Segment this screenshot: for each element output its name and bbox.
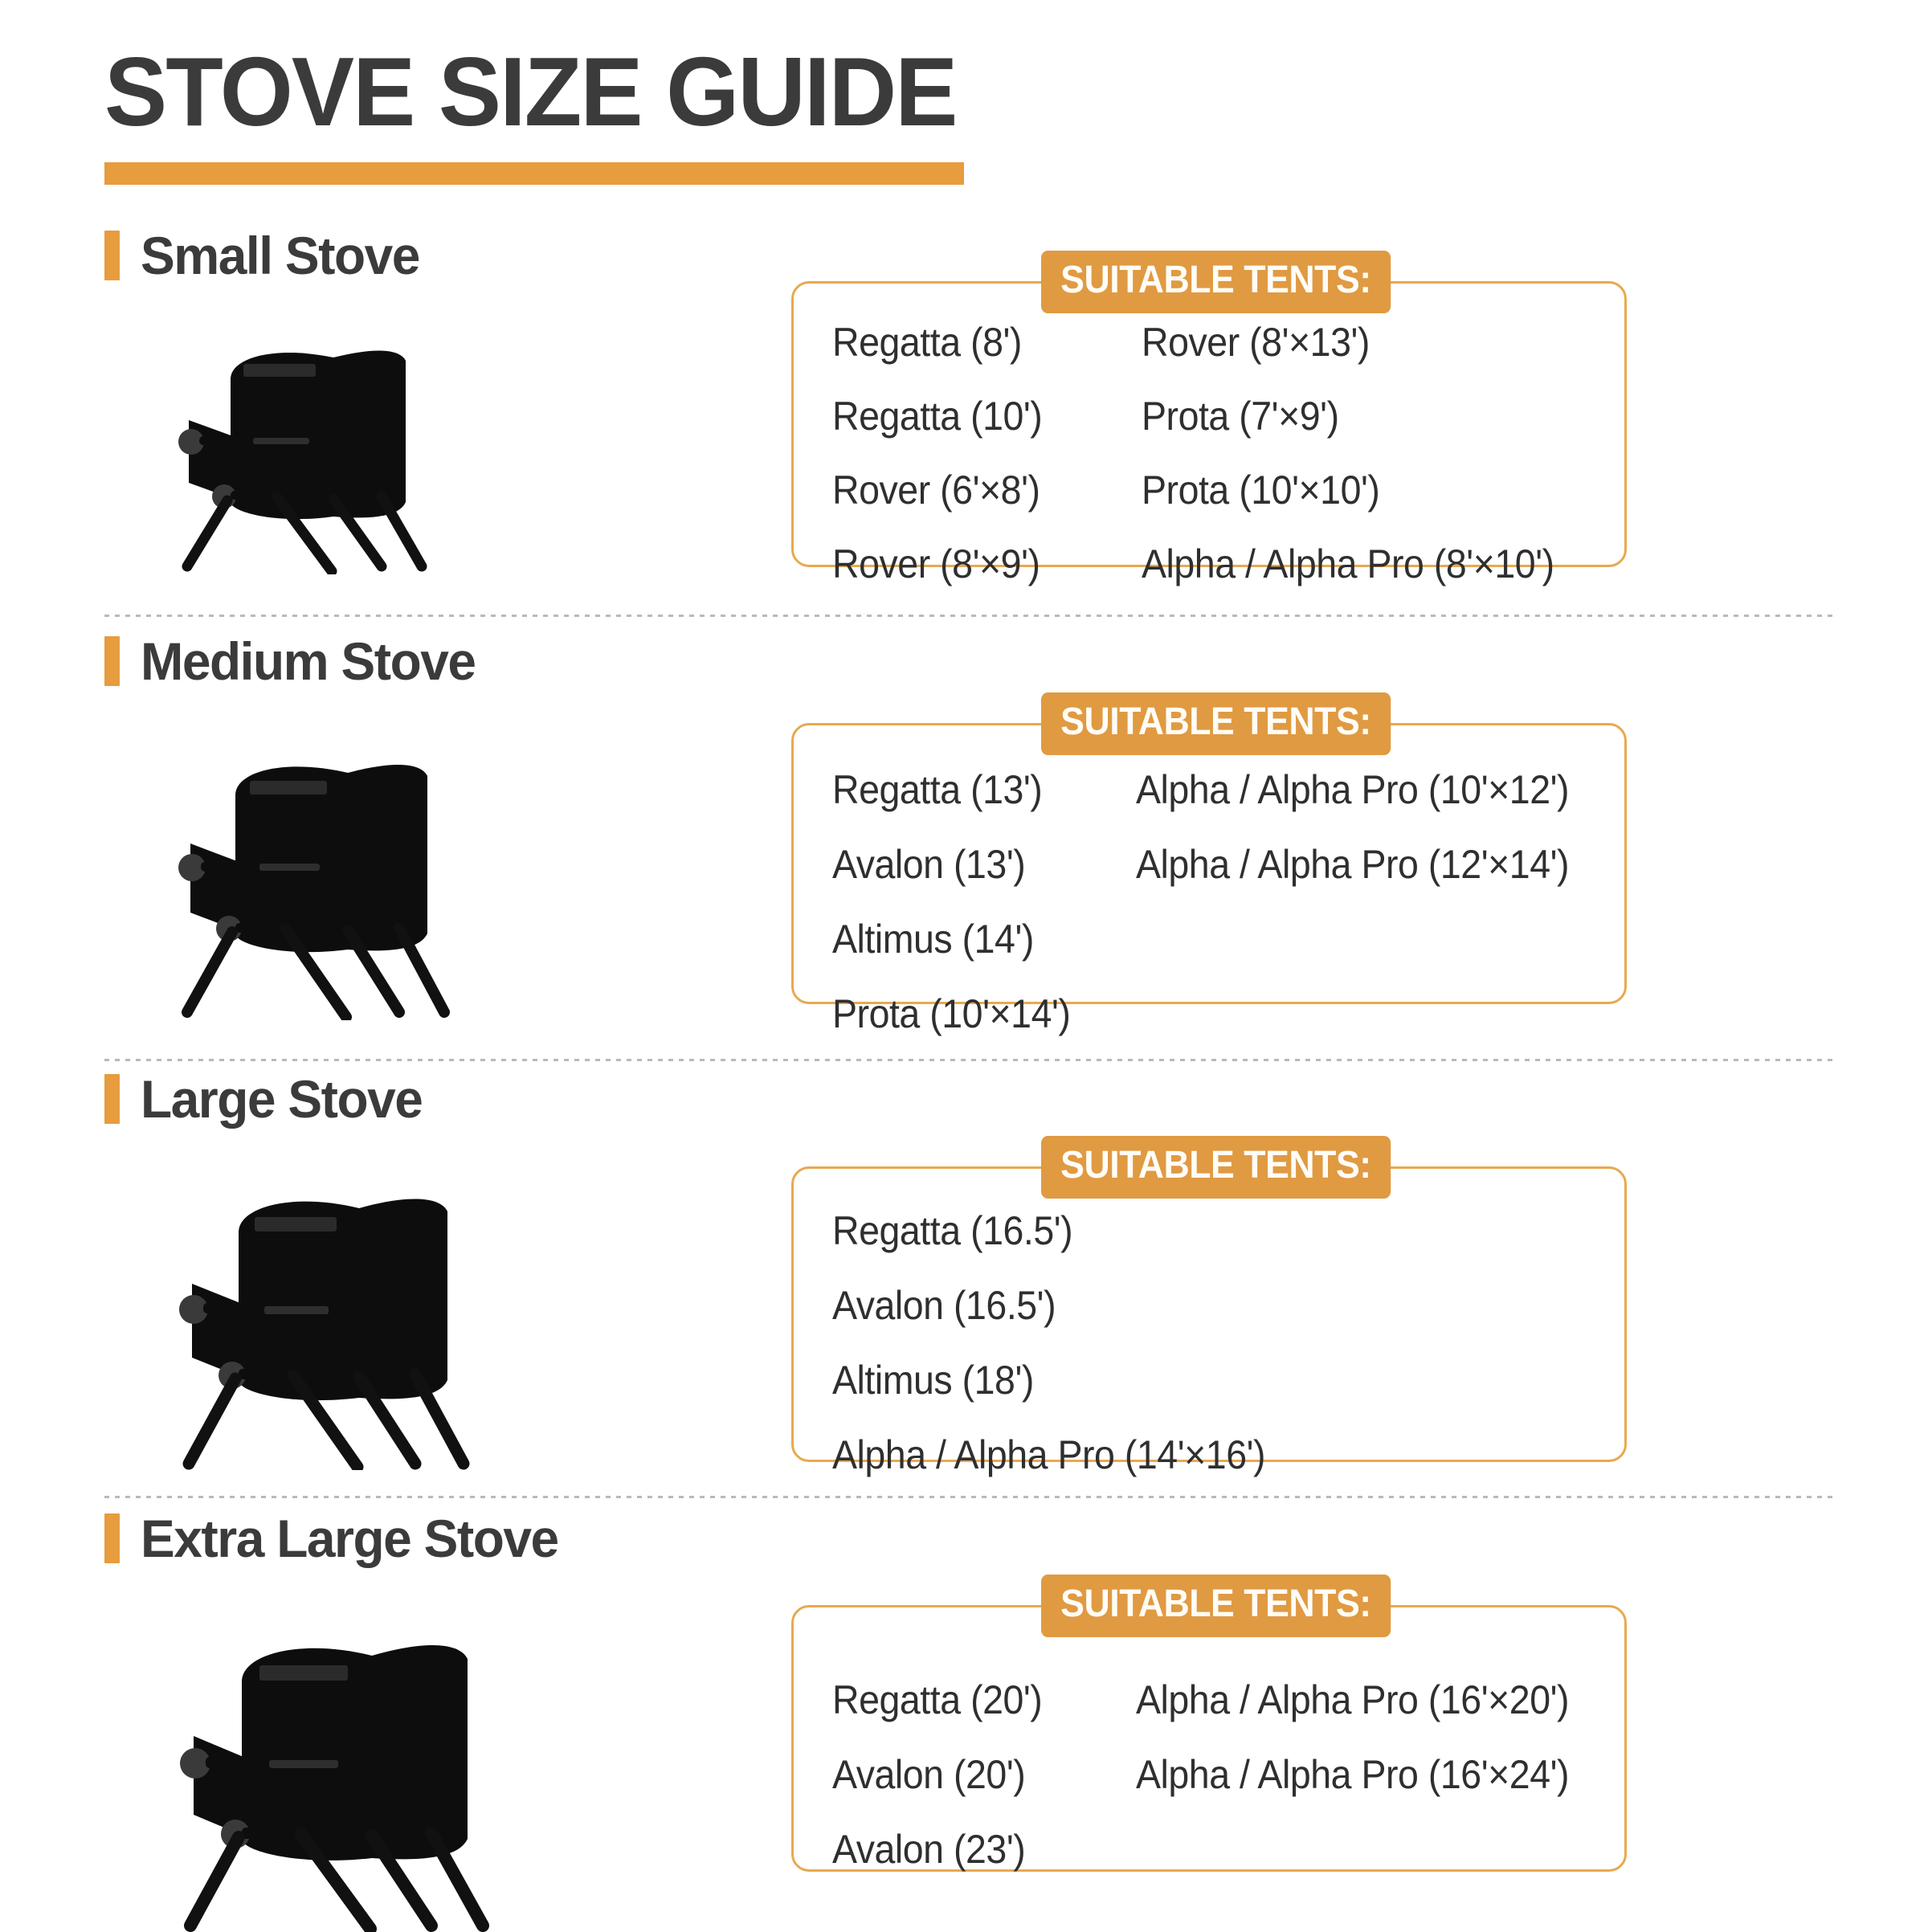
tent-item: Prota (10'×14') bbox=[832, 994, 1115, 1034]
tent-item: Regatta (8') bbox=[832, 322, 1120, 362]
accent-bar-icon bbox=[104, 636, 120, 686]
tent-column-left: Regatta (16.5') Avalon (16.5') Altimus (… bbox=[832, 1211, 1362, 1475]
tent-box-large: SUITABLE TENTS: Regatta (16.5') Avalon (… bbox=[791, 1166, 1627, 1462]
suitable-tents-badge: SUITABLE TENTS: bbox=[1041, 692, 1391, 755]
tent-column-right: Alpha / Alpha Pro (16'×20') Alpha / Alph… bbox=[1136, 1680, 1602, 1869]
suitable-tents-badge: SUITABLE TENTS: bbox=[1041, 1575, 1391, 1637]
tent-item: Rover (6'×8') bbox=[832, 470, 1120, 510]
tent-box-extra-large: SUITABLE TENTS: Regatta (20') Avalon (20… bbox=[791, 1605, 1627, 1872]
tent-item: Prota (7'×9') bbox=[1142, 396, 1554, 436]
tent-item: Regatta (16.5') bbox=[832, 1211, 1325, 1251]
small-stove-image bbox=[141, 301, 486, 574]
stove-size-guide-page: STOVE SIZE GUIDE Small Stove bbox=[0, 0, 1928, 1928]
tent-box-medium: SUITABLE TENTS: Regatta (13') Avalon (13… bbox=[791, 723, 1627, 1004]
accent-bar-icon bbox=[104, 1074, 120, 1124]
tent-item: Altimus (18') bbox=[832, 1360, 1325, 1400]
tent-item: Avalon (13') bbox=[832, 844, 1115, 884]
tent-item: Alpha / Alpha Pro (16'×24') bbox=[1136, 1754, 1569, 1795]
tent-item: Avalon (23') bbox=[832, 1829, 1115, 1869]
tent-column-right: Rover (8'×13') Prota (7'×9') Prota (10'×… bbox=[1142, 322, 1585, 584]
section-title-small: Small Stove bbox=[141, 229, 419, 282]
accent-bar-icon bbox=[104, 231, 120, 280]
section-divider bbox=[104, 1059, 1836, 1061]
section-title-large: Large Stove bbox=[141, 1072, 422, 1125]
tent-item: Alpha / Alpha Pro (12'×14') bbox=[1136, 844, 1569, 884]
suitable-tents-badge: SUITABLE TENTS: bbox=[1041, 1136, 1391, 1199]
tent-item: Rover (8'×13') bbox=[1142, 322, 1554, 362]
page-title-block: STOVE SIZE GUIDE bbox=[104, 44, 992, 141]
tent-item: Prota (10'×10') bbox=[1142, 470, 1554, 510]
tent-item: Regatta (20') bbox=[832, 1680, 1115, 1720]
tent-item: Avalon (16.5') bbox=[832, 1285, 1325, 1325]
accent-bar-icon bbox=[104, 1513, 120, 1563]
tent-column-left: Regatta (20') Avalon (20') Avalon (23') bbox=[832, 1680, 1136, 1869]
section-heading-medium: Medium Stove bbox=[104, 635, 485, 688]
tent-item: Alpha / Alpha Pro (10'×12') bbox=[1136, 770, 1569, 810]
extra-large-stove-image bbox=[141, 1595, 566, 1932]
section-divider bbox=[104, 615, 1836, 617]
tent-item: Alpha / Alpha Pro (14'×16') bbox=[832, 1435, 1325, 1475]
tent-item: Avalon (20') bbox=[832, 1754, 1115, 1795]
section-heading-large: Large Stove bbox=[104, 1072, 431, 1125]
section-heading-small: Small Stove bbox=[104, 229, 428, 282]
section-title-extra-large: Extra Large Stove bbox=[141, 1512, 558, 1565]
section-title-medium: Medium Stove bbox=[141, 635, 476, 688]
tent-item: Alpha / Alpha Pro (16'×20') bbox=[1136, 1680, 1569, 1720]
tent-box-small: SUITABLE TENTS: Regatta (8') Regatta (10… bbox=[791, 281, 1627, 567]
tent-item: Rover (8'×9') bbox=[832, 544, 1120, 584]
section-divider bbox=[104, 1496, 1836, 1498]
medium-stove-image bbox=[141, 715, 518, 1020]
title-underline-bar bbox=[104, 162, 964, 185]
tent-column-left: Regatta (13') Avalon (13') Altimus (14')… bbox=[832, 770, 1136, 1034]
suitable-tents-badge: SUITABLE TENTS: bbox=[1041, 251, 1391, 313]
section-heading-extra-large: Extra Large Stove bbox=[104, 1512, 571, 1565]
large-stove-image bbox=[141, 1149, 542, 1470]
tent-column-right: Alpha / Alpha Pro (10'×12') Alpha / Alph… bbox=[1136, 770, 1602, 1034]
tent-item: Altimus (14') bbox=[832, 919, 1115, 959]
tent-item: Alpha / Alpha Pro (8'×10') bbox=[1142, 544, 1554, 584]
tent-item: Regatta (13') bbox=[832, 770, 1115, 810]
tent-item: Regatta (10') bbox=[832, 396, 1120, 436]
page-title: STOVE SIZE GUIDE bbox=[104, 44, 956, 141]
tent-column-left: Regatta (8') Regatta (10') Rover (6'×8')… bbox=[832, 322, 1142, 584]
